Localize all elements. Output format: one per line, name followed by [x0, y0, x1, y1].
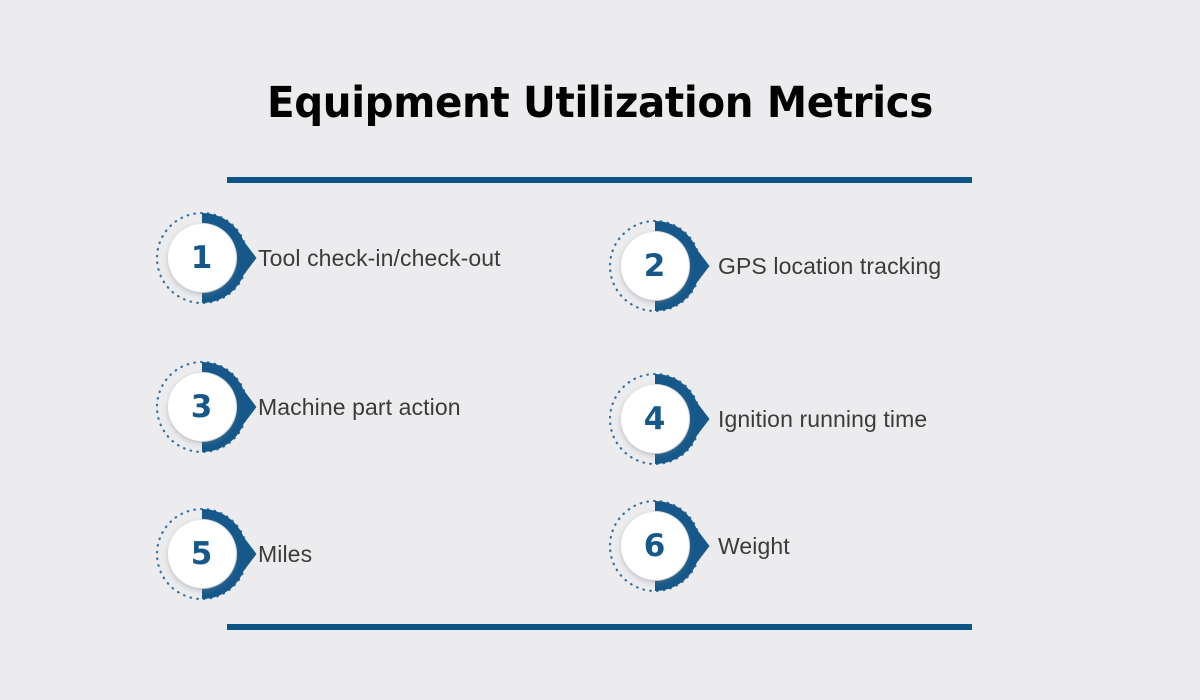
badge-3: 3: [147, 352, 257, 462]
badge-6: 6: [600, 491, 710, 601]
item-label-6: Weight: [718, 491, 790, 601]
top-divider: [227, 177, 972, 183]
numbered-ring-icon: [147, 352, 257, 462]
item-label-1: Tool check-in/check-out: [258, 203, 501, 313]
numbered-ring-icon: [147, 499, 257, 609]
badge-5: 5: [147, 499, 257, 609]
bottom-divider: [227, 624, 972, 630]
numbered-ring-icon: [600, 364, 710, 474]
slide-canvas: Equipment Utilization Metrics 1 Tool che…: [0, 0, 1200, 700]
numbered-ring-icon: [147, 203, 257, 313]
numbered-ring-icon: [600, 491, 710, 601]
item-label-3: Machine part action: [258, 352, 461, 462]
numbered-ring-icon: [600, 211, 710, 321]
badge-2: 2: [600, 211, 710, 321]
page-title: Equipment Utilization Metrics: [36, 74, 1164, 132]
badge-1: 1: [147, 203, 257, 313]
item-label-2: GPS location tracking: [718, 211, 941, 321]
item-label-5: Miles: [258, 499, 312, 609]
item-label-4: Ignition running time: [718, 364, 927, 474]
badge-4: 4: [600, 364, 710, 474]
